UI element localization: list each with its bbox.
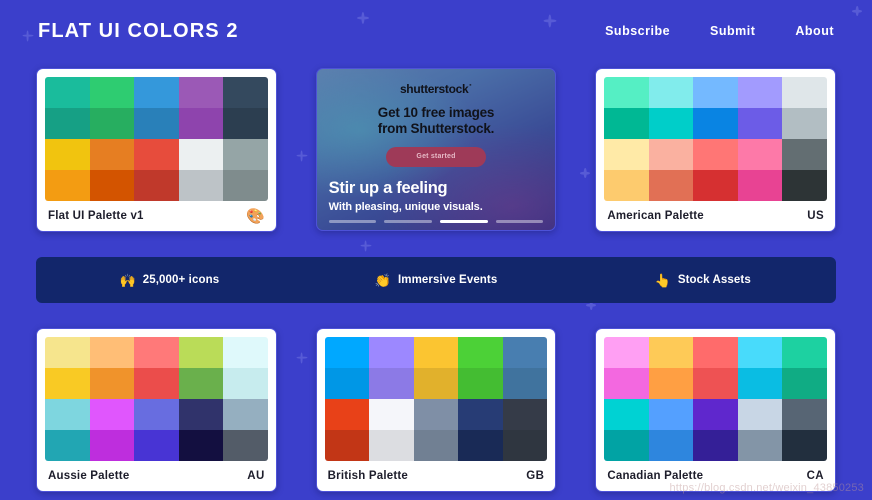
color-swatch[interactable]	[503, 337, 548, 368]
raised-hands-icon: 🙌	[119, 274, 135, 287]
color-swatch[interactable]	[223, 399, 268, 430]
color-swatch[interactable]	[693, 399, 738, 430]
ad-subtagline: With pleasing, unique visuals.	[329, 201, 483, 213]
palette-card-american-palette[interactable]: American Palette US	[595, 68, 836, 232]
color-swatch[interactable]	[90, 368, 135, 399]
color-swatch[interactable]	[45, 77, 90, 108]
color-swatch[interactable]	[738, 430, 783, 461]
color-swatch[interactable]	[604, 108, 649, 139]
color-swatch[interactable]	[458, 368, 503, 399]
color-swatch[interactable]	[90, 139, 135, 170]
color-swatch[interactable]	[649, 108, 694, 139]
color-swatch[interactable]	[223, 368, 268, 399]
color-swatch[interactable]	[604, 430, 649, 461]
color-swatch[interactable]	[458, 399, 503, 430]
promo-item-label: 25,000+ icons	[143, 274, 219, 286]
color-swatch[interactable]	[738, 337, 783, 368]
palette-name: British Palette	[328, 470, 408, 482]
palette-grid-bottom: Aussie Palette AU British Palette GB Can…	[0, 328, 872, 492]
color-swatch[interactable]	[782, 77, 827, 108]
palette-name: Aussie Palette	[48, 470, 129, 482]
card-footer: Flat UI Palette v1 🎨	[37, 201, 276, 231]
color-swatch[interactable]	[693, 139, 738, 170]
swatch-grid	[325, 337, 548, 461]
palette-emoji-icon: 🎨	[246, 209, 265, 224]
color-swatch[interactable]	[604, 77, 649, 108]
nav-link-subscribe[interactable]: Subscribe	[605, 24, 670, 38]
card-footer: Aussie Palette AU	[37, 461, 276, 491]
color-swatch[interactable]	[604, 337, 649, 368]
color-swatch[interactable]	[90, 337, 135, 368]
shutterstock-ad-card[interactable]: shutterstock˙ Get 10 free images from Sh…	[316, 68, 557, 231]
color-swatch[interactable]	[90, 108, 135, 139]
color-swatch[interactable]	[782, 139, 827, 170]
color-swatch[interactable]	[693, 108, 738, 139]
color-swatch[interactable]	[458, 337, 503, 368]
palette-country-code: AU	[247, 470, 264, 482]
color-swatch[interactable]	[782, 430, 827, 461]
color-swatch[interactable]	[414, 430, 459, 461]
color-swatch[interactable]	[223, 337, 268, 368]
swatch-grid	[45, 337, 268, 461]
color-swatch[interactable]	[369, 368, 414, 399]
shutterstock-logo: shutterstock˙	[329, 82, 544, 96]
color-swatch[interactable]	[325, 368, 370, 399]
color-swatch[interactable]	[369, 399, 414, 430]
palette-country-code: GB	[526, 470, 544, 482]
color-swatch[interactable]	[649, 399, 694, 430]
ad-headline: Get 10 free images from Shutterstock.	[329, 105, 544, 138]
color-swatch[interactable]	[738, 108, 783, 139]
color-swatch[interactable]	[649, 430, 694, 461]
color-swatch[interactable]	[782, 170, 827, 201]
watermark: https://blog.csdn.net/weixin_43850253	[669, 482, 864, 494]
palette-name: American Palette	[607, 210, 704, 222]
color-swatch[interactable]	[325, 430, 370, 461]
color-swatch[interactable]	[179, 399, 224, 430]
color-swatch[interactable]	[649, 337, 694, 368]
color-swatch[interactable]	[134, 139, 179, 170]
color-swatch[interactable]	[649, 368, 694, 399]
color-swatch[interactable]	[223, 108, 268, 139]
color-swatch[interactable]	[782, 368, 827, 399]
palette-name: Canadian Palette	[607, 470, 703, 482]
ad-slide-indicator-4[interactable]	[496, 220, 544, 223]
color-swatch[interactable]	[414, 337, 459, 368]
color-swatch[interactable]	[45, 399, 90, 430]
color-swatch[interactable]	[90, 170, 135, 201]
color-swatch[interactable]	[693, 368, 738, 399]
promo-item-stock-assets[interactable]: 👆 Stock Assets	[569, 274, 836, 287]
color-swatch[interactable]	[90, 77, 135, 108]
promo-item-label: Stock Assets	[678, 274, 751, 286]
color-swatch[interactable]	[179, 337, 224, 368]
ad-slide-indicator-1[interactable]	[329, 220, 377, 223]
sparkle-icon	[360, 240, 371, 251]
color-swatch[interactable]	[604, 139, 649, 170]
color-swatch[interactable]	[223, 430, 268, 461]
color-swatch[interactable]	[179, 139, 224, 170]
color-swatch[interactable]	[738, 368, 783, 399]
color-swatch[interactable]	[693, 337, 738, 368]
color-swatch[interactable]	[134, 337, 179, 368]
color-swatch[interactable]	[649, 139, 694, 170]
color-swatch[interactable]	[414, 368, 459, 399]
swatch-grid	[604, 337, 827, 461]
palette-card-canadian-palette[interactable]: Canadian Palette CA	[595, 328, 836, 492]
color-swatch[interactable]	[604, 170, 649, 201]
color-swatch[interactable]	[223, 139, 268, 170]
color-swatch[interactable]	[503, 430, 548, 461]
nav-link-submit[interactable]: Submit	[710, 24, 755, 38]
color-swatch[interactable]	[223, 77, 268, 108]
color-swatch[interactable]	[782, 108, 827, 139]
swatch-grid	[604, 77, 827, 201]
palette-country-code: US	[807, 210, 824, 222]
color-swatch[interactable]	[179, 108, 224, 139]
color-swatch[interactable]	[693, 77, 738, 108]
main-nav: Subscribe Submit About	[605, 24, 834, 38]
color-swatch[interactable]	[45, 430, 90, 461]
color-swatch[interactable]	[134, 77, 179, 108]
color-swatch[interactable]	[90, 430, 135, 461]
color-swatch[interactable]	[179, 430, 224, 461]
ad-tagline: Stir up a feeling	[329, 179, 448, 198]
color-swatch[interactable]	[45, 139, 90, 170]
color-swatch[interactable]	[179, 77, 224, 108]
clapping-hands-icon: 👏	[375, 274, 391, 287]
promo-banner[interactable]: 🙌 25,000+ icons 👏 Immersive Events 👆 Sto…	[36, 257, 836, 303]
color-swatch[interactable]	[604, 399, 649, 430]
color-swatch[interactable]	[134, 170, 179, 201]
color-swatch[interactable]	[134, 108, 179, 139]
promo-item-icons[interactable]: 🙌 25,000+ icons	[36, 274, 303, 287]
color-swatch[interactable]	[693, 170, 738, 201]
palette-card-flat-ui-palette-v1[interactable]: Flat UI Palette v1 🎨	[36, 68, 277, 232]
color-swatch[interactable]	[134, 399, 179, 430]
color-swatch[interactable]	[45, 337, 90, 368]
promo-item-events[interactable]: 👏 Immersive Events	[303, 274, 570, 287]
color-swatch[interactable]	[414, 399, 459, 430]
pointing-up-icon: 👆	[655, 274, 671, 287]
get-started-button[interactable]: Get started	[386, 147, 486, 167]
color-swatch[interactable]	[45, 108, 90, 139]
ad-slide-indicators[interactable]	[329, 220, 544, 224]
palette-country-code: CA	[807, 470, 824, 482]
color-swatch[interactable]	[649, 170, 694, 201]
color-swatch[interactable]	[503, 399, 548, 430]
color-swatch[interactable]	[738, 139, 783, 170]
color-swatch[interactable]	[369, 430, 414, 461]
nav-link-about[interactable]: About	[795, 24, 834, 38]
color-swatch[interactable]	[738, 399, 783, 430]
color-swatch[interactable]	[179, 368, 224, 399]
site-header: FLAT UI COLORS 2 Subscribe Submit About	[0, 0, 872, 62]
ad-headline-line-2: from Shutterstock.	[329, 121, 544, 137]
palette-card-aussie-palette[interactable]: Aussie Palette AU	[36, 328, 277, 492]
promo-item-label: Immersive Events	[398, 274, 497, 286]
color-swatch[interactable]	[90, 399, 135, 430]
color-swatch[interactable]	[738, 170, 783, 201]
color-swatch[interactable]	[649, 77, 694, 108]
color-swatch[interactable]	[134, 368, 179, 399]
color-swatch[interactable]	[325, 337, 370, 368]
ad-slide-indicator-2[interactable]	[384, 220, 432, 223]
page-title: FLAT UI COLORS 2	[38, 20, 239, 43]
palette-card-british-palette[interactable]: British Palette GB	[316, 328, 557, 492]
color-swatch[interactable]	[134, 430, 179, 461]
color-swatch[interactable]	[604, 368, 649, 399]
color-swatch[interactable]	[738, 77, 783, 108]
color-swatch[interactable]	[325, 399, 370, 430]
color-swatch[interactable]	[45, 368, 90, 399]
color-swatch[interactable]	[45, 170, 90, 201]
color-swatch[interactable]	[782, 399, 827, 430]
color-swatch[interactable]	[458, 430, 503, 461]
ad-slide-indicator-3[interactable]	[440, 220, 488, 224]
swatch-grid	[45, 77, 268, 201]
palette-grid-top: Flat UI Palette v1 🎨 shutterstock˙ Get 1…	[0, 68, 872, 232]
color-swatch[interactable]	[223, 170, 268, 201]
palette-name: Flat UI Palette v1	[48, 210, 144, 222]
card-footer: British Palette GB	[317, 461, 556, 491]
color-swatch[interactable]	[369, 337, 414, 368]
color-swatch[interactable]	[179, 170, 224, 201]
color-swatch[interactable]	[503, 368, 548, 399]
ad-headline-line-1: Get 10 free images	[329, 105, 544, 121]
color-swatch[interactable]	[782, 337, 827, 368]
color-swatch[interactable]	[693, 430, 738, 461]
card-footer: American Palette US	[596, 201, 835, 231]
